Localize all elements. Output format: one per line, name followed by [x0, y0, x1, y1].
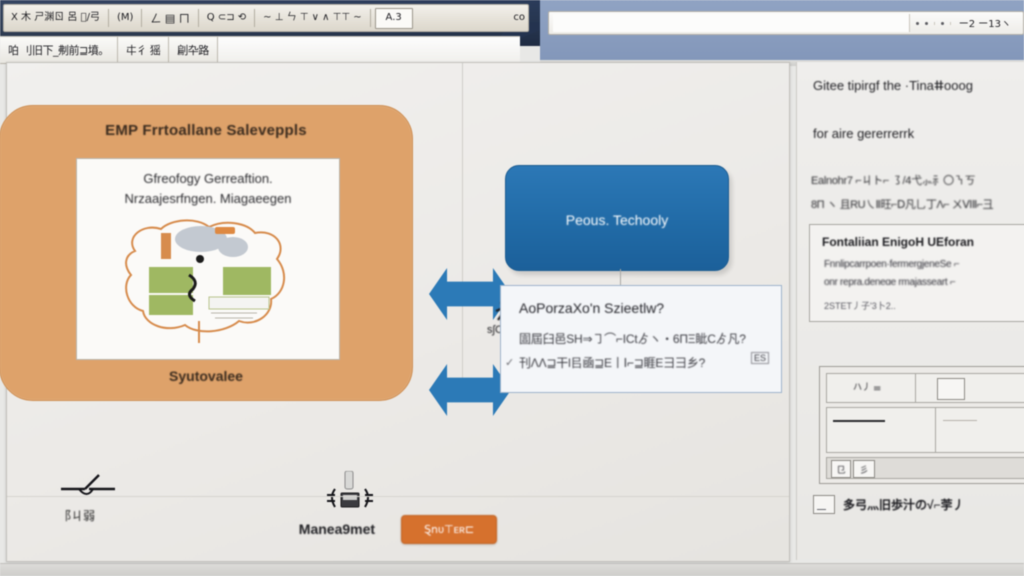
orange-group-panel[interactable]: EMP Frrtoallane Saleveppls Gfreofogy Ger…	[0, 105, 413, 401]
toolbar-primary-icons: X 木 ㄕ渊ㄖ 呂 ゚/弓	[11, 13, 100, 23]
slide-canvas[interactable]: EMP Frrtoallane Saleveppls Gfreofogy Ger…	[6, 62, 790, 562]
right-pane-text-1: Ealnohr7 ⌐ㄐト⌐ ㇌/4⼷⺗⺬〇㇎ㄎ	[811, 172, 975, 188]
save-icon-glyph: 㔾	[836, 463, 845, 476]
right-pane-heading-1: Gitee tipirgf the ·Tinaⵌooog	[813, 78, 973, 94]
left-app-tabstrip[interactable]: 㕷 刂旧下_刜前⊒墳。 㐄彳 猺 㓲卆路	[0, 36, 520, 64]
inner-card-line2: Nrzaajesrfngen. Miagaeegen	[125, 191, 292, 206]
callout-line-2: 刊ΛΛ⊒干l㠯凾⊒E丨Ⅰ⌐⊒睚E彐彐乡?	[519, 354, 705, 371]
toolbar-value-text: A.3	[386, 13, 402, 23]
table-row[interactable]	[826, 407, 1024, 453]
toolbar-group-mid[interactable]: ㄥ ▤ ㄇ	[146, 7, 193, 29]
table-value-bar	[833, 420, 885, 422]
table-tabbar[interactable]: 㔾 ⼺	[826, 457, 1024, 479]
tab-item-2-label: 㓲卆路	[177, 45, 209, 56]
toolbar-divider-4	[254, 9, 255, 27]
process-technology-label: Peous. Techooly	[506, 212, 728, 228]
right-pane-card[interactable]: Fontaliian EnigoH UEforan Fnnlipcarrpoen…	[809, 224, 1024, 322]
table-cell-glyph: ハ⼃ 𝍢	[853, 380, 881, 396]
toolbar-far-group[interactable]: со	[513, 13, 525, 23]
chevron-row-icon: ~ ⊥ ㄣ ⊤ ∨ ∧ ⊤⊤ ~	[263, 13, 362, 23]
toolbar-group-paren[interactable]: (M)	[113, 7, 137, 29]
right-app-input[interactable]	[553, 14, 910, 32]
left-app-toolbar[interactable]: X 木 ㄕ渊ㄖ 呂 ゚/弓 (M) ㄥ ▤ ㄇ Q ⊂⊐ ⟲ ~ ⊥ ㄣ ⊤ ∨…	[3, 4, 529, 32]
circle-tool-icon: (M)	[117, 13, 133, 23]
right-pane-table[interactable]: ハ⼃ 𝍢 㔾 ⼺	[819, 366, 1024, 484]
check-icon: ✓	[505, 356, 514, 369]
toolbar-mid-icons: ㄥ ▤ ㄇ	[150, 13, 189, 24]
toolbar-divider-5	[370, 9, 371, 27]
dot-icon-b	[925, 22, 928, 25]
tab-item-0[interactable]: 㕷 刂旧下_刜前⊒墳。	[0, 37, 118, 63]
right-pane-text-2: 8Π ヽ 且RU㇏Ⅱ旺⌐Ⅾ凡乚丁Λ⌐ ㄨⅥⅡ⌐⼹	[811, 196, 993, 212]
toolbar-value-field[interactable]: A.3	[375, 8, 413, 29]
sheet-tab-icon[interactable]: ⼺	[853, 460, 875, 478]
right-app-zoom-label: ー2 ー13ヽ	[959, 19, 1011, 30]
toolbar-divider	[108, 9, 109, 27]
tab-item-1-label: 㐄彳 猺	[126, 45, 161, 56]
inner-card-title: Gfreofogy Gerreaftion. Nrzaajesrfngen. M…	[77, 169, 339, 208]
table-row[interactable]: ハ⼃ 𝍢	[826, 373, 1024, 403]
tab-item-0-label: 㕷 刂旧下_刜前⊒墳。	[8, 45, 109, 56]
tab-item-2[interactable]: 㓲卆路	[169, 37, 218, 63]
tabstrip-filler	[218, 37, 520, 63]
inner-white-card[interactable]: Gfreofogy Gerreaftion. Nrzaajesrfngen. M…	[76, 158, 340, 360]
slide-footer-label: Manea9met	[299, 521, 375, 537]
callout-tag-badge: ES	[751, 352, 769, 364]
process-flow-illustration	[105, 217, 311, 347]
right-app-toolbar[interactable]: ー2 ー13ヽ	[548, 11, 1024, 35]
table-value-bar-2	[943, 420, 977, 421]
document-icon	[813, 495, 835, 514]
dot-icon-c	[941, 22, 944, 25]
right-pane-card-line-1: Fnnlipcarrpoen·fermergjeneSe ⌐	[824, 259, 959, 270]
status-bar	[0, 563, 1024, 576]
toolbar-end-label: со	[513, 13, 525, 23]
toolbar-group-tools[interactable]: Q ⊂⊐ ⟲	[203, 7, 250, 29]
callout-heading: AoPorzaXo'n Szieetlw?	[519, 300, 664, 316]
callout-line-1: 圁屆臼邑SH⇒㇆⌒⌐ICtゟヽ・6ΠΞ眦Cゟ凡?	[519, 330, 746, 347]
tab-item-1[interactable]: 㐄彳 猺	[118, 37, 170, 63]
right-app-zoom[interactable]: ー2 ー13ヽ	[951, 14, 1019, 32]
right-pane-footer[interactable]: 多⼸⺣旧歩汁の√⌐荢⼃	[813, 495, 965, 514]
dot-icon-a	[916, 22, 919, 25]
table-action-button[interactable]	[937, 378, 965, 400]
table-cell-separator-2	[935, 408, 936, 452]
orange-panel-title: EMP Frrtoallane Saleveppls	[0, 122, 412, 139]
app-root: X 木 ㄕ渊ㄖ 呂 ゚/弓 (M) ㄥ ▤ ㄇ Q ⊂⊐ ⟲ ~ ⊥ ㄣ ⊤ ∨…	[0, 0, 1024, 576]
table-cell-separator	[915, 374, 916, 402]
slide-footer-button[interactable]: Ȿ𝗇ᴜ⊤ᴇʀ⊏	[401, 515, 497, 544]
sheet-tab-glyph: ⼺	[859, 463, 868, 476]
right-app-icon-group-2[interactable]	[935, 22, 951, 25]
inner-card-line1: Gfreofogy Gerreaftion.	[143, 171, 272, 186]
search-icon: Q ⊂⊐ ⟲	[207, 13, 246, 23]
toolbar-divider-2	[141, 9, 142, 27]
right-pane-card-line-2: onr repra.deneɑe rmajasseart ⌐	[824, 277, 955, 288]
right-pane-card-heading: Fontaliian EnigoH UEforan	[822, 235, 974, 249]
right-app-icon-group[interactable]	[910, 22, 935, 25]
box-connector-line	[620, 269, 621, 285]
canvas-guide-line	[462, 63, 463, 393]
toolbar-divider-3	[198, 9, 199, 27]
toolbar-group-primary[interactable]: X 木 ㄕ渊ㄖ 呂 ゚/弓	[7, 7, 104, 29]
right-document-pane[interactable]: Gitee tipirgf the ·Tinaⵌooog for aire ge…	[796, 62, 1024, 560]
illustration-svg	[105, 217, 311, 347]
process-technology-box[interactable]: Peous. Techooly	[505, 165, 729, 271]
right-pane-footer-text: 多⼸⺣旧歩汁の√⌐荢⼃	[843, 496, 965, 513]
orange-panel-footer: Syutovalee	[0, 368, 412, 384]
slide-footer: Manea9met Ȿ𝗇ᴜ⊤ᴇʀ⊏	[7, 496, 789, 561]
callout-box[interactable]: AoPorzaXo'n Szieetlw? 圁屆臼邑SH⇒㇆⌒⌐ICtゟヽ・6Π…	[500, 285, 782, 393]
save-icon[interactable]: 㔾	[831, 460, 851, 478]
toolbar-group-dropdown[interactable]: ~ ⊥ ㄣ ⊤ ∨ ∧ ⊤⊤ ~	[259, 7, 366, 29]
right-pane-card-note: 2STET⼃⼦'3⼘2..	[824, 299, 896, 312]
double-arrow-icon-bottom[interactable]	[429, 359, 511, 421]
right-pane-heading-2: for aire gererrerrk	[813, 126, 914, 141]
